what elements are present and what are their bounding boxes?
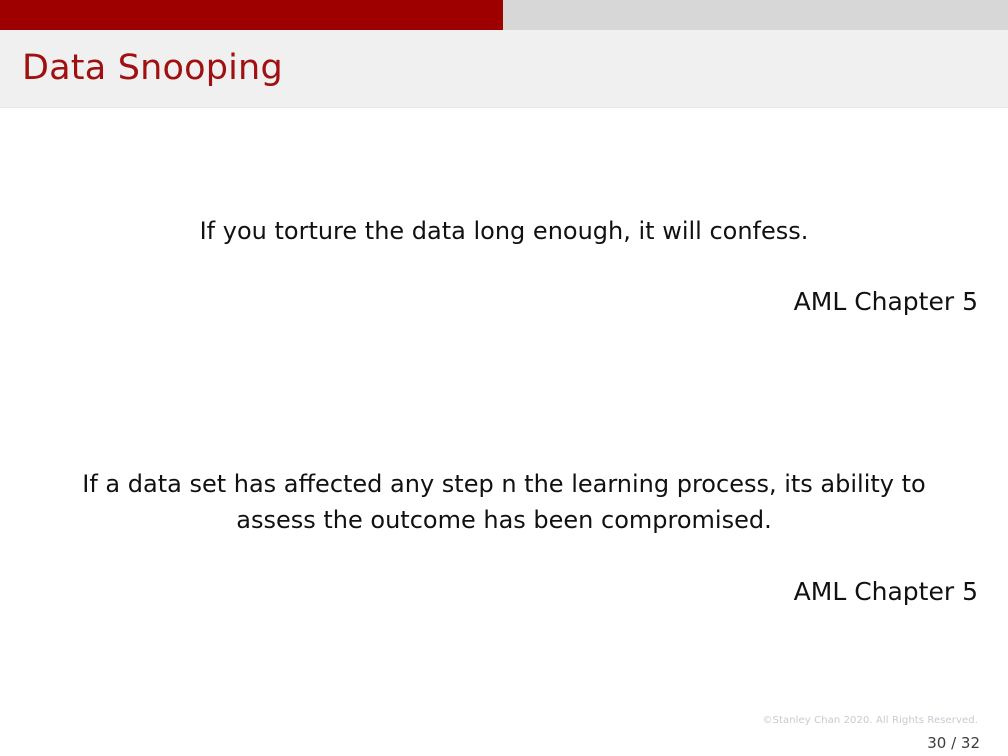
copyright-text: Stanley Chan 2020. All Rights Reserved. bbox=[773, 715, 978, 726]
header-top-bar bbox=[0, 0, 1008, 30]
copyright-notice: ©Stanley Chan 2020. All Rights Reserved. bbox=[762, 714, 978, 728]
page-title: Data Snooping bbox=[22, 46, 283, 90]
quote-text-2: If a data set has affected any step n th… bbox=[0, 466, 1008, 538]
quote-text-1: If you torture the data long enough, it … bbox=[0, 213, 1008, 249]
header-progress-accent bbox=[0, 0, 503, 30]
copyright-icon: © bbox=[762, 714, 772, 728]
presentation-slide: Data Snooping If you torture the data lo… bbox=[0, 0, 1008, 756]
quote-attribution-1: AML Chapter 5 bbox=[794, 286, 978, 318]
quote-block-2: If a data set has affected any step n th… bbox=[0, 466, 1008, 538]
slide-body: If you torture the data long enough, it … bbox=[0, 108, 1008, 708]
page-number: 30 / 32 bbox=[927, 733, 980, 753]
quote-attribution-2: AML Chapter 5 bbox=[794, 576, 978, 608]
quote-block-1: If you torture the data long enough, it … bbox=[0, 213, 1008, 249]
